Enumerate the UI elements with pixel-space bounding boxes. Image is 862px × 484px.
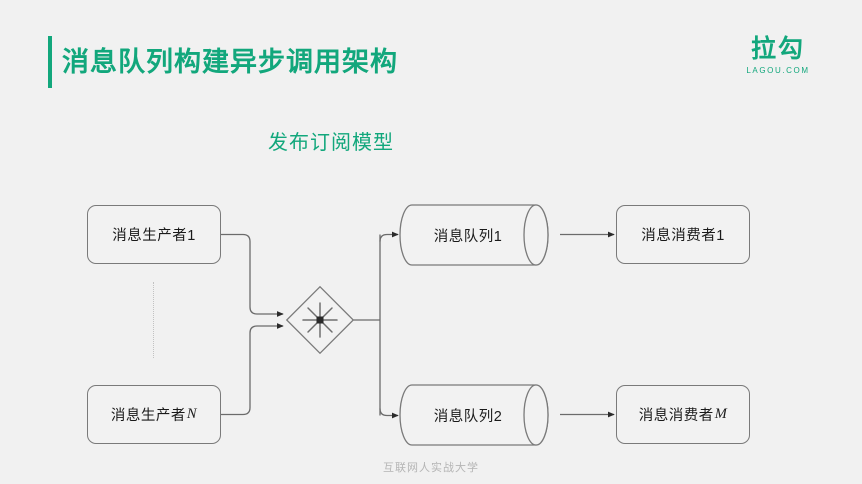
node-consumer-m[interactable]: 消息消费者M xyxy=(616,385,750,444)
node-queue-2[interactable]: 消息队列2 xyxy=(400,385,560,445)
node-consumer-1-label: 消息消费者1 xyxy=(641,224,725,245)
node-consumer-m-label: 消息消费者 xyxy=(639,404,714,425)
asterisk-burst-center xyxy=(317,317,324,324)
node-producer-n-label: 消息生产者 xyxy=(111,404,186,425)
node-producer-n-variable: N xyxy=(186,406,197,423)
node-queue-1-label: 消息队列1 xyxy=(400,205,536,265)
footer-note: 互联网人实战大学 xyxy=(0,459,862,475)
connector-split-to-queue1 xyxy=(380,235,398,242)
node-producer-1-label: 消息生产者1 xyxy=(112,224,196,245)
connector-producer1-to-exchange xyxy=(221,235,283,315)
node-queue-2-label: 消息队列2 xyxy=(400,385,536,445)
node-queue-1[interactable]: 消息队列1 xyxy=(400,205,560,265)
node-producer-1[interactable]: 消息生产者1 xyxy=(87,205,221,264)
connector-split-to-queue2 xyxy=(380,409,398,416)
connector-producerN-to-exchange xyxy=(221,326,283,415)
exchange-node[interactable] xyxy=(287,287,353,353)
producer-ellipsis-divider xyxy=(153,282,154,358)
node-producer-n[interactable]: 消息生产者N xyxy=(87,385,221,444)
node-consumer-m-variable: M xyxy=(714,406,728,423)
node-consumer-1[interactable]: 消息消费者1 xyxy=(616,205,750,264)
presentation-slide: 消息队列构建异步调用架构 拉勾 LAGOU.COM 发布订阅模型 xyxy=(0,0,862,484)
